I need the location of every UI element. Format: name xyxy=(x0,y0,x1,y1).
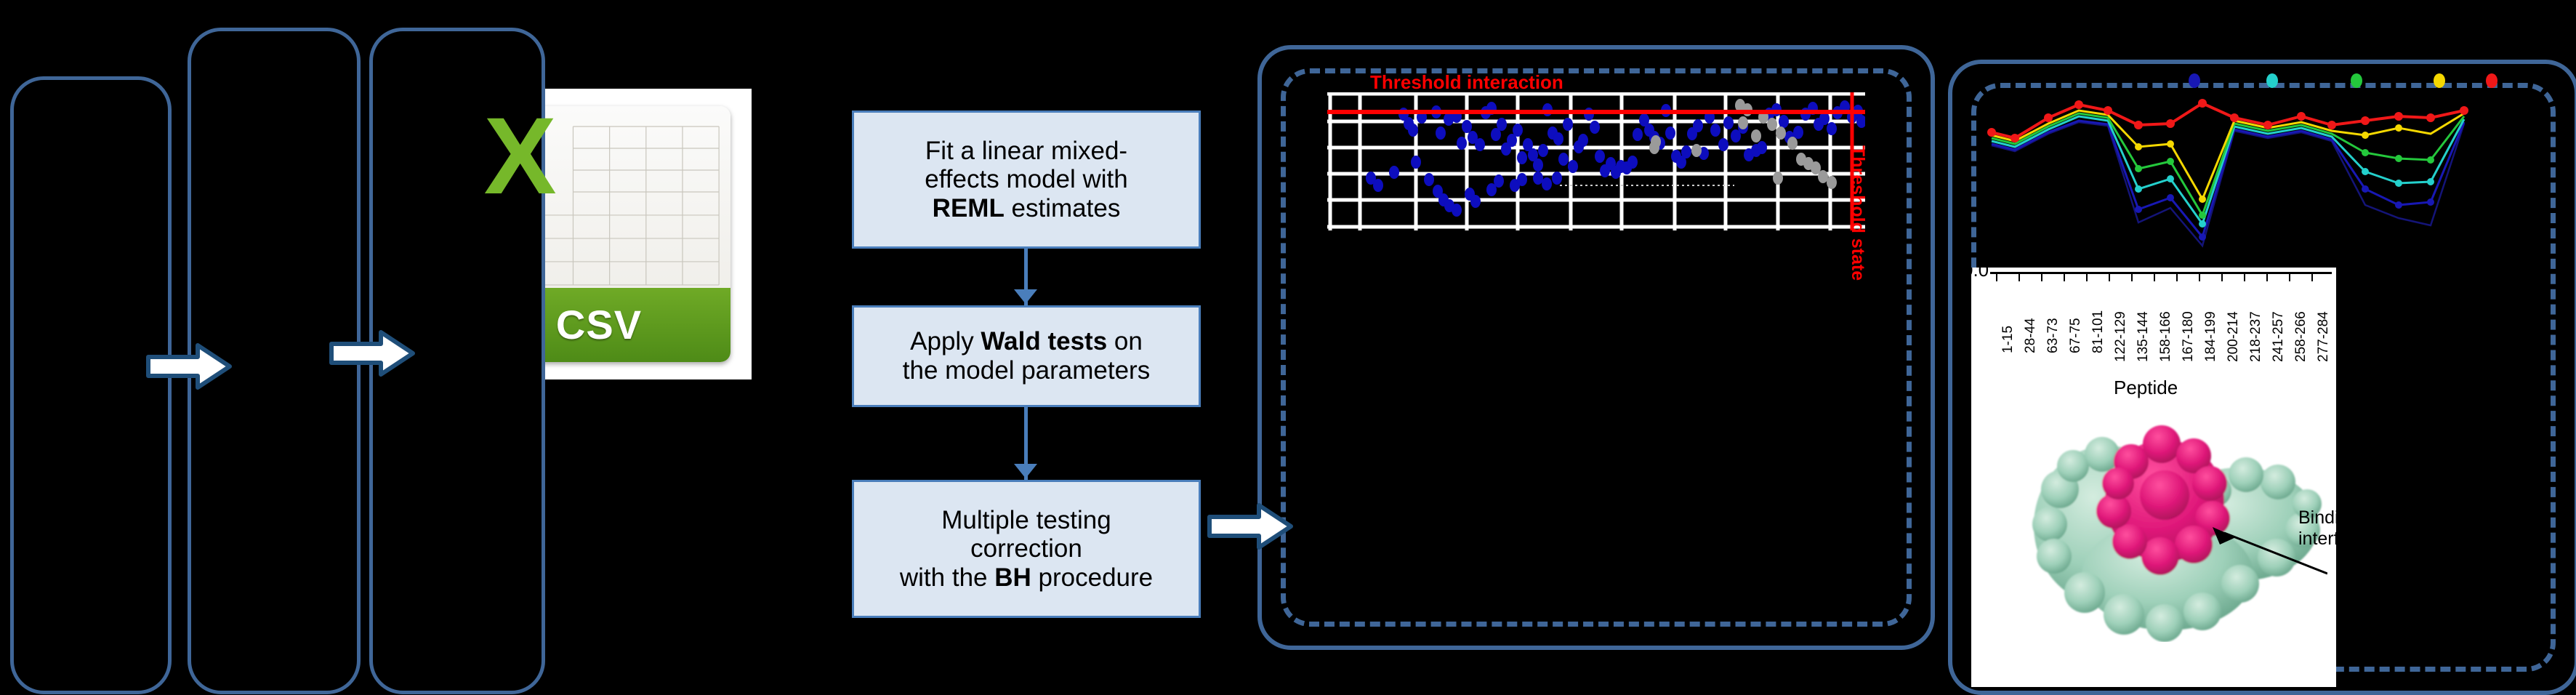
step-wald-bold: Wald tests xyxy=(981,327,1107,355)
binding-interface-annotation: Binding interface xyxy=(2298,507,2336,550)
step-wald-pre: Apply xyxy=(910,327,981,355)
xtick-label: 135-144 xyxy=(2136,311,2152,362)
step-bh-bold: BH xyxy=(994,563,1031,592)
step-bh-post: procedure xyxy=(1031,563,1153,592)
xtick-label: 277-284 xyxy=(2316,311,2332,362)
xtick-label: 63-73 xyxy=(2045,318,2061,353)
xtick-label: 200-214 xyxy=(2226,311,2242,362)
connector-arrowhead-1 xyxy=(1014,289,1037,304)
step-bh-line3: with the BH procedure xyxy=(900,563,1153,592)
peptide-figure-card: 0.0 1-15 28-44 63-73 67-75 81-101 122-12… xyxy=(1971,268,2336,687)
csv-icon-letter: X xyxy=(473,111,568,244)
legend-dot-yellow xyxy=(2434,73,2445,88)
xtick-label: 241-257 xyxy=(2271,311,2287,362)
scatter-threshold-interaction-label: Threshold interaction xyxy=(1370,71,1563,94)
xtick-label: 122-129 xyxy=(2113,311,2129,362)
step-wald-post: on xyxy=(1107,327,1143,355)
legend-dot-blue xyxy=(2189,73,2200,88)
flow-arrow-1 xyxy=(145,342,233,391)
process-step-wald: Apply Wald tests on the model parameters xyxy=(852,305,1201,407)
chart-ytick-label: 0.0 xyxy=(1971,268,1989,281)
xtick-label: 167-180 xyxy=(2181,311,2197,362)
chart-xaxis-ticks xyxy=(1990,274,2332,283)
peptide-line-chart xyxy=(1984,80,2566,269)
binding-interface-line1: Binding xyxy=(2298,507,2336,529)
xtick-label: 28-44 xyxy=(2023,318,2039,353)
process-step-bh: Multiple testing correction with the BH … xyxy=(852,480,1201,618)
step-bh-line2: correction xyxy=(900,534,1153,563)
binding-interface-line2: interface xyxy=(2298,529,2336,550)
legend-dot-red xyxy=(2486,73,2497,88)
process-step-reml: Fit a linear mixed- effects model with R… xyxy=(852,111,1201,249)
connector-arrowhead-2 xyxy=(1014,464,1037,478)
xtick-label: 184-199 xyxy=(2203,311,2219,362)
chart-xaxis-title: Peptide xyxy=(2114,377,2178,399)
xtick-label: 1-15 xyxy=(2000,326,2016,353)
step-reml-line1: Fit a linear mixed- xyxy=(925,137,1128,166)
xtick-label: 158-166 xyxy=(2158,311,2174,362)
xtick-label: 218-237 xyxy=(2248,311,2264,362)
csv-icon-format-label: CSV xyxy=(556,301,642,348)
xtick-label: 81-101 xyxy=(2090,310,2106,353)
step-reml-rest: estimates xyxy=(1005,194,1121,222)
flow-arrow-2 xyxy=(329,329,416,378)
step-wald-line1: Apply Wald tests on xyxy=(903,327,1150,356)
step-reml-line2: effects model with xyxy=(925,165,1128,194)
legend-dot-cyan xyxy=(2266,73,2278,88)
legend-dot-green xyxy=(2351,73,2362,88)
step-bh-pre: with the xyxy=(900,563,994,592)
xtick-label: 67-75 xyxy=(2068,318,2084,353)
step-bh-line1: Multiple testing xyxy=(900,506,1153,535)
flow-arrow-3 xyxy=(1207,502,1294,551)
step-reml-bold: REML xyxy=(933,194,1005,222)
scatter-plot-canvas xyxy=(1327,92,1865,230)
protein-surface-structure xyxy=(2022,402,2327,642)
xtick-label: 258-266 xyxy=(2293,311,2309,362)
step-reml-line3: REML estimates xyxy=(925,194,1128,223)
step-wald-line2: the model parameters xyxy=(903,356,1150,385)
